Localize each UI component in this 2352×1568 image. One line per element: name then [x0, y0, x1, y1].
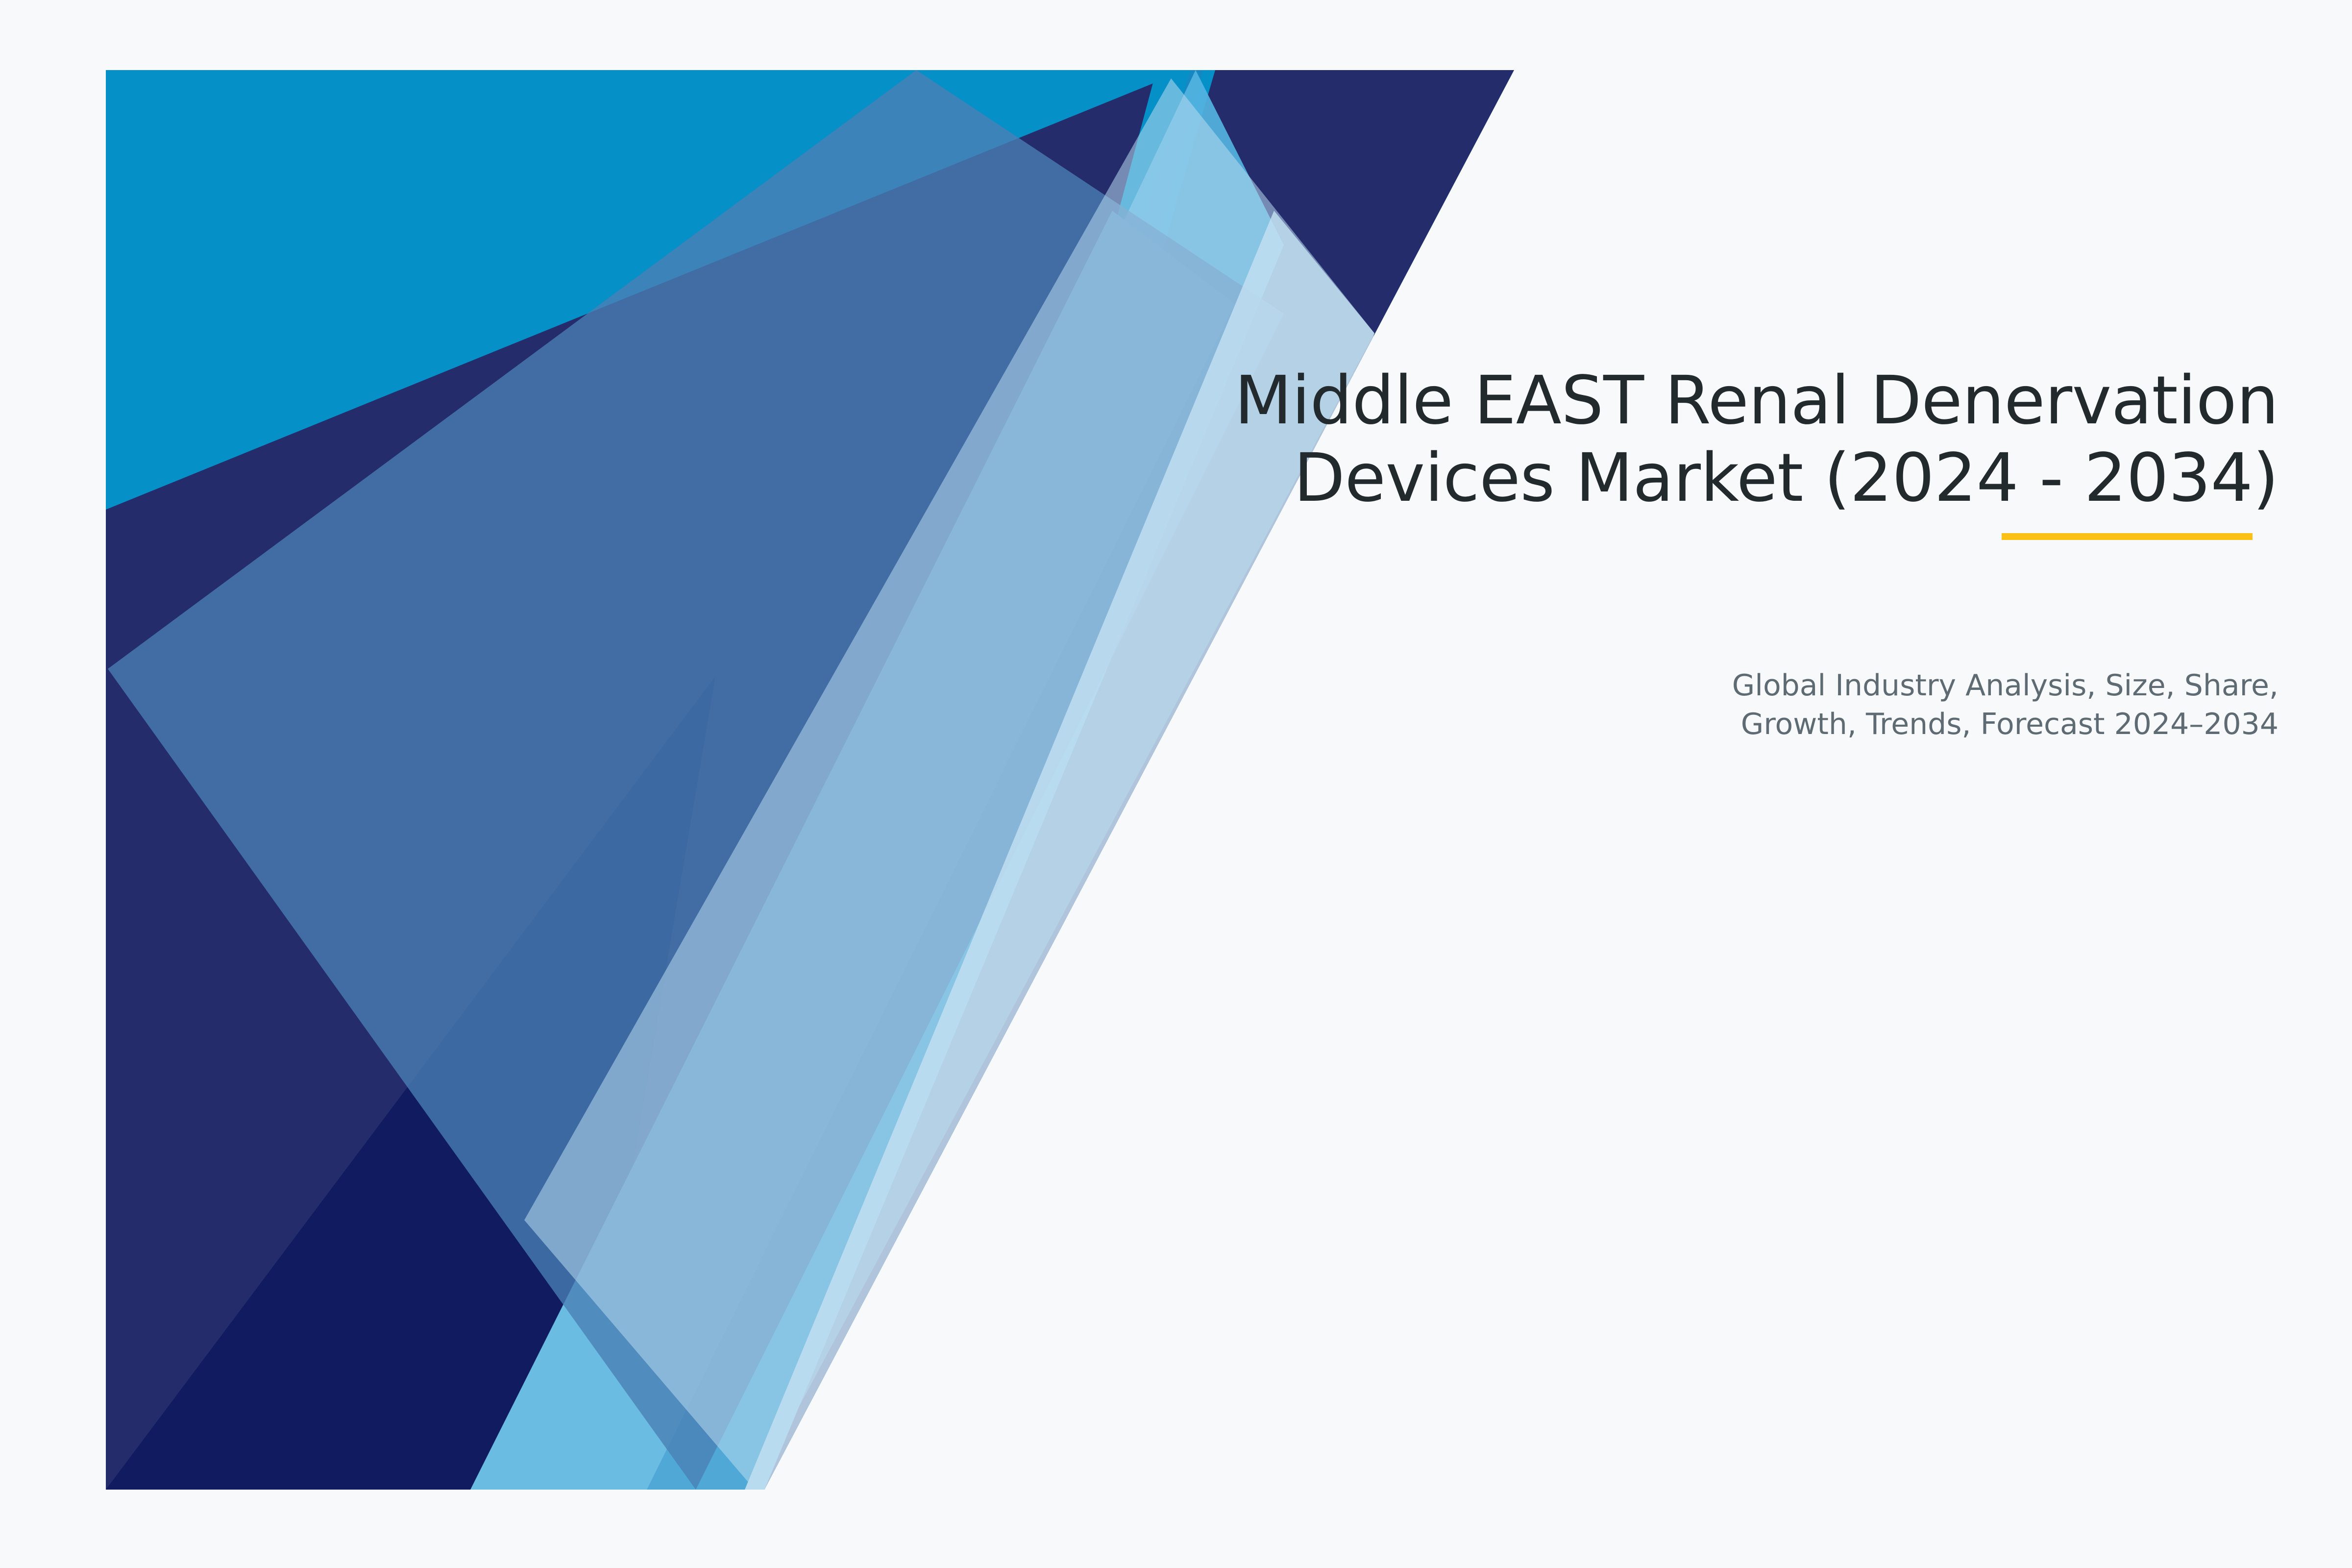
artwork-canvas	[0, 0, 2352, 1568]
page-title: Middle EAST Renal Denervation Devices Ma…	[1053, 363, 2278, 517]
report-cover: Middle EAST Renal Denervation Devices Ma…	[0, 0, 2352, 1568]
shape-cyan-sliver-left	[1004, 70, 1215, 637]
shape-dark-navy-slab	[106, 1151, 701, 1490]
shape-dark-navy-triangle	[106, 676, 715, 1490]
shape-navy-wedge	[106, 70, 1514, 1490]
page-subtitle: Global Industry Analysis, Size, Share, G…	[1053, 666, 2278, 744]
title-accent-underline	[2002, 533, 2253, 540]
shape-cyan-base	[106, 70, 1527, 1491]
cover-text-block: Middle EAST Renal Denervation Devices Ma…	[1053, 363, 2278, 517]
shape-slate-overlay	[108, 70, 1284, 1490]
shape-mid-cyan-band	[519, 70, 1284, 1490]
shape-light-blue-diamond	[524, 78, 1374, 1490]
cover-artwork	[0, 0, 2352, 1568]
